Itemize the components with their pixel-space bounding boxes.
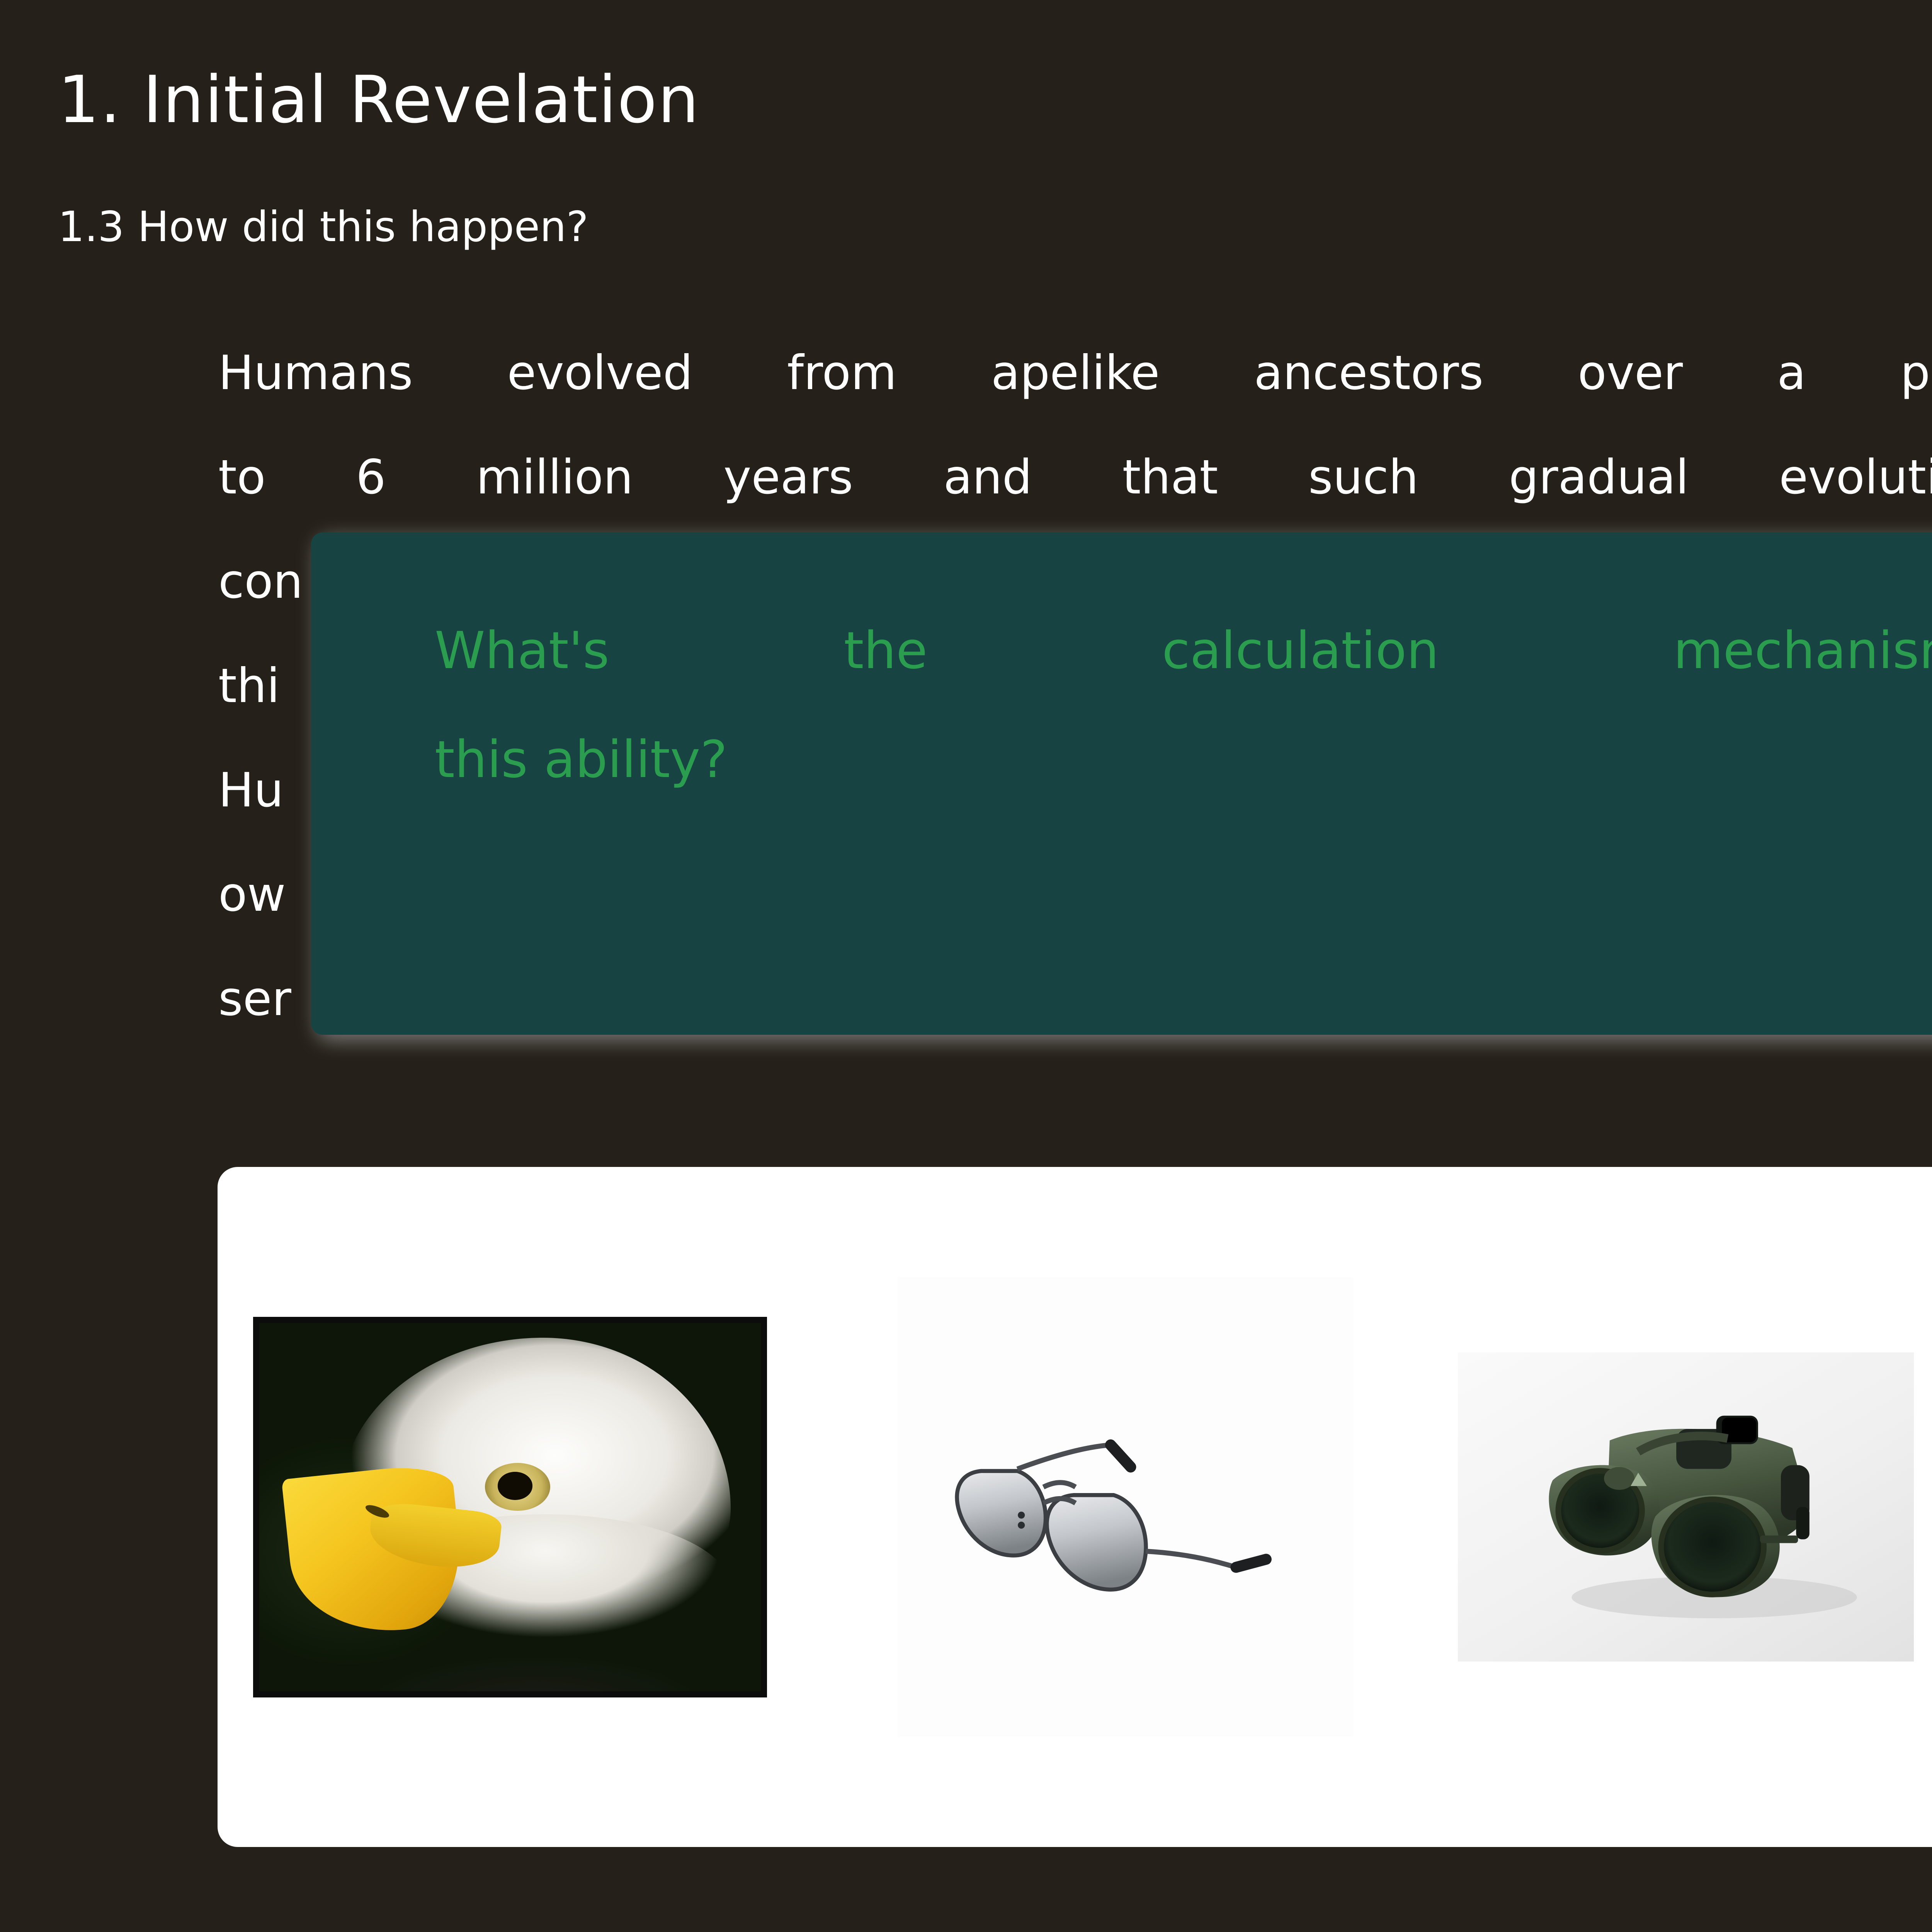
subsection-title: 1.3 How did this happen? bbox=[58, 203, 588, 251]
binoculars-photo bbox=[1458, 1352, 1914, 1662]
paragraph-line-2: to 6 million years and that such gradual… bbox=[218, 425, 1932, 529]
beamer-slide: 1. Initial Revelation 1.3 How did this h… bbox=[0, 0, 1932, 1932]
question-callout-box: What's the calculation mechanism behind … bbox=[311, 532, 1932, 1035]
question-line-2: this ability? bbox=[435, 705, 1932, 814]
figure-panel bbox=[218, 1167, 1932, 1847]
section-title: 1. Initial Revelation bbox=[58, 62, 700, 138]
aviator-sunglasses-photo bbox=[898, 1277, 1354, 1737]
paragraph-line-1: Humans evolved from apelike ancestors ov… bbox=[218, 321, 1932, 425]
bald-eagle-photo bbox=[253, 1317, 767, 1697]
question-callout-text: What's the calculation mechanism behind … bbox=[435, 596, 1932, 814]
question-line-1: What's the calculation mechanism behind bbox=[435, 596, 1932, 705]
